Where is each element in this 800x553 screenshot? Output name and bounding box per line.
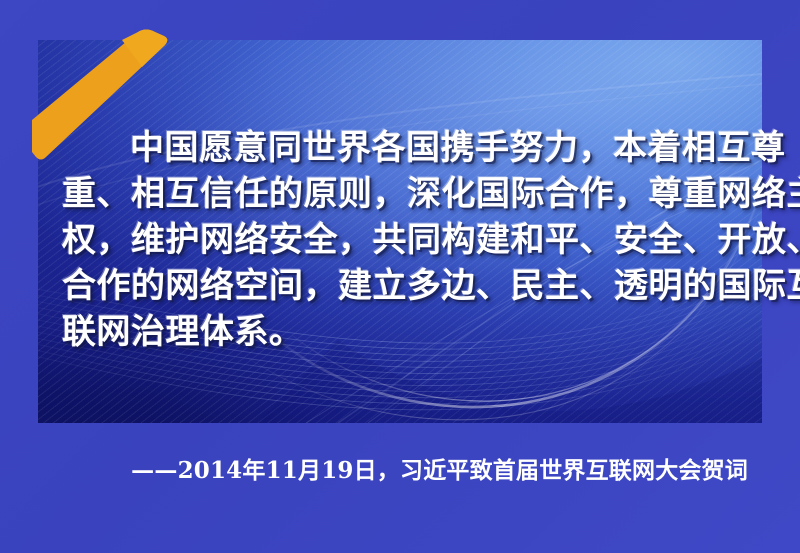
quote-line: 重、相互信任的原则，深化国际合作，尊重网络主	[62, 171, 744, 217]
quote-line: 联网治理体系。	[62, 309, 744, 355]
quote-line: 中国愿意同世界各国携手努力，本着相互尊	[62, 125, 744, 171]
quote-attribution: ——2014年11月19日，习近平致首届世界互联网大会贺词	[0, 455, 748, 487]
quote-line: 合作的网络空间，建立多边、民主、透明的国际互	[62, 263, 744, 309]
quote-line: 权，维护网络安全，共同构建和平、安全、开放、	[62, 217, 744, 263]
poster-canvas: 中国愿意同世界各国携手努力，本着相互尊 重、相互信任的原则，深化国际合作，尊重网…	[0, 0, 800, 553]
quote-text-block: 中国愿意同世界各国携手努力，本着相互尊 重、相互信任的原则，深化国际合作，尊重网…	[38, 40, 762, 423]
